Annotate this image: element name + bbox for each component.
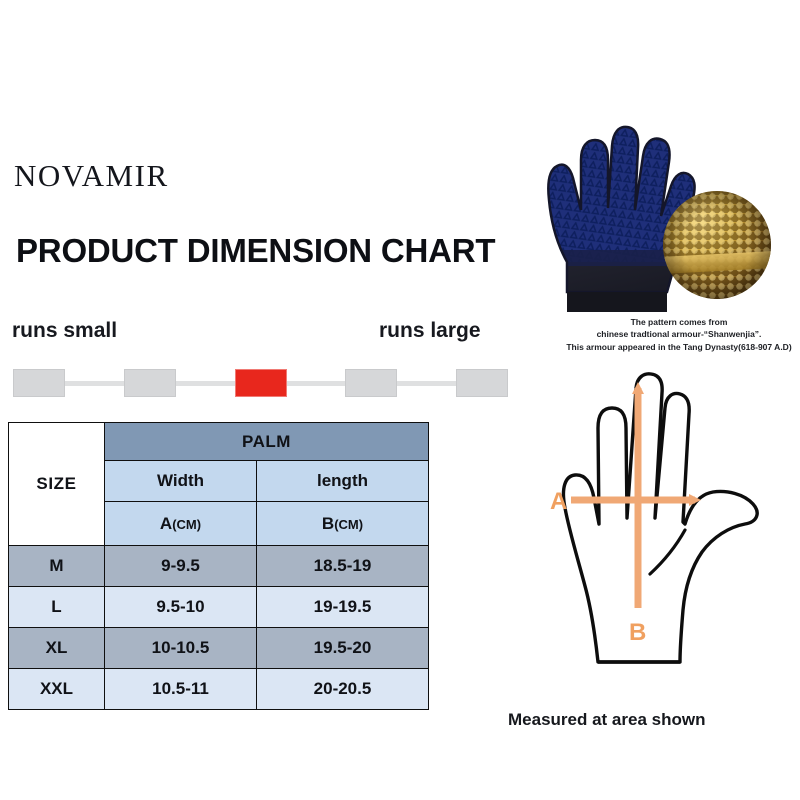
table-header-size: SIZE — [9, 423, 105, 546]
table-header-row-group: SIZE PALM — [9, 423, 429, 461]
table-row: M 9-9.5 18.5-19 — [9, 546, 429, 587]
table-header-width: Width — [105, 461, 257, 502]
size-dimension-table: SIZE PALM Width length A(CM) B(CM) M 9-9… — [8, 422, 429, 710]
row-length-xxl: 20-20.5 — [257, 669, 429, 710]
row-length-xl: 19.5-20 — [257, 628, 429, 669]
table-header-b-cm: B(CM) — [257, 502, 429, 546]
page-title: PRODUCT DIMENSION CHART — [16, 232, 495, 270]
fit-label-runs-small: runs small — [12, 319, 117, 343]
fit-scale-connector-1 — [65, 381, 124, 386]
row-width-xl: 10-10.5 — [105, 628, 257, 669]
row-size-xl: XL — [9, 628, 105, 669]
glove-cuff — [567, 292, 667, 312]
unit-cm-a: (CM) — [172, 517, 201, 532]
row-length-l: 19-19.5 — [257, 587, 429, 628]
row-size-l: L — [9, 587, 105, 628]
table-header-a-cm: A(CM) — [105, 502, 257, 546]
fit-scale-connector-2 — [176, 381, 235, 386]
armour-vignette — [663, 191, 771, 299]
unit-letter-b: B — [322, 514, 334, 533]
hand-measurement-diagram: A B — [495, 372, 795, 702]
table-header-palm: PALM — [105, 423, 429, 461]
measure-label-b: B — [629, 619, 646, 646]
pattern-caption-line-3: This armour appeared in the Tang Dynasty… — [560, 341, 798, 353]
pattern-caption: The pattern comes from chinese tradtiona… — [560, 316, 798, 353]
fit-scale-connector-4 — [397, 381, 456, 386]
unit-cm-b: (CM) — [334, 517, 363, 532]
fit-scale-step-2 — [124, 369, 176, 397]
table-row: XL 10-10.5 19.5-20 — [9, 628, 429, 669]
pattern-caption-line-1: The pattern comes from — [560, 316, 798, 328]
table-row: L 9.5-10 19-19.5 — [9, 587, 429, 628]
row-size-xxl: XXL — [9, 669, 105, 710]
armour-inset-image — [663, 191, 771, 299]
fit-scale-indicator — [13, 368, 508, 398]
measure-label-a: A — [550, 488, 567, 515]
fit-scale-step-4 — [345, 369, 397, 397]
hand-outline — [563, 374, 757, 662]
measure-note: Measured at area shown — [508, 710, 705, 730]
size-chart-page: NOVAMIR PRODUCT DIMENSION CHART runs sma… — [0, 0, 800, 800]
row-width-l: 9.5-10 — [105, 587, 257, 628]
table-header-length: length — [257, 461, 429, 502]
row-length-m: 18.5-19 — [257, 546, 429, 587]
fit-label-runs-large: runs large — [379, 319, 481, 343]
row-size-m: M — [9, 546, 105, 587]
fit-scale-step-1 — [13, 369, 65, 397]
brand-logo: NOVAMIR — [14, 158, 169, 194]
fit-scale-step-3-active — [235, 369, 287, 397]
row-width-m: 9-9.5 — [105, 546, 257, 587]
table-row: XXL 10.5-11 20-20.5 — [9, 669, 429, 710]
pattern-caption-line-2: chinese tradtional armour-“Shanwenjia”. — [560, 328, 798, 340]
unit-letter-a: A — [160, 514, 172, 533]
fit-scale-connector-3 — [287, 381, 346, 386]
row-width-xxl: 10.5-11 — [105, 669, 257, 710]
